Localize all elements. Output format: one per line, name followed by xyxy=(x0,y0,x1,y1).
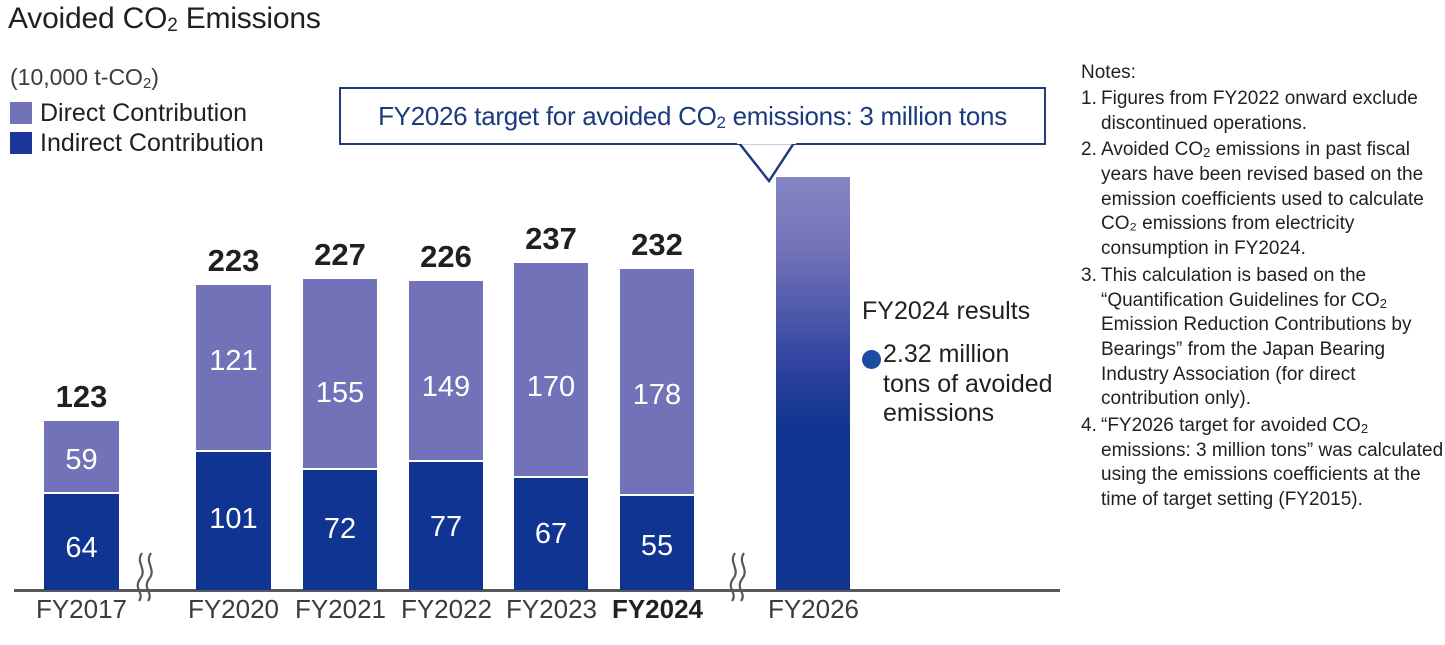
result-annotation-title: FY2024 results xyxy=(862,297,1062,326)
note-text-pre: This calculation is based on the “Quanti… xyxy=(1101,265,1380,311)
note-text: “FY2026 target for avoided CO2 emissions… xyxy=(1101,414,1445,513)
note-number: 1. xyxy=(1081,87,1101,136)
bar-segment-indirect: 72 xyxy=(303,470,377,590)
bar-segment-direct: 121 xyxy=(196,285,271,452)
note-text: Avoided CO2 emissions in past fiscal yea… xyxy=(1101,138,1445,261)
result-annotation-body: 2.32 milliontons of avoidedemissions xyxy=(862,340,1062,429)
x-axis-label-fy2017: FY2017 xyxy=(14,594,149,625)
result-annotation-value: 2.32 milliontons of avoidedemissions xyxy=(883,340,1053,429)
x-axis-label-fy2026: FY2026 xyxy=(746,594,881,625)
bar-segment-value: 67 xyxy=(514,520,588,549)
bar-total-label: 237 xyxy=(514,223,588,254)
bar-total-label: 232 xyxy=(620,229,694,260)
note-item: 1. Figures from FY2022 onward exclude di… xyxy=(1081,87,1445,136)
note-item: 2. Avoided CO2 emissions in past fiscal … xyxy=(1081,138,1445,261)
bar-segment-indirect: 55 xyxy=(620,496,694,590)
x-axis-label-fy2024: FY2024 xyxy=(590,594,725,625)
bar-segment-direct: 178 xyxy=(620,269,694,496)
bar-segment-indirect: 64 xyxy=(44,494,119,590)
bar-segment-value: 101 xyxy=(196,505,271,534)
bar-fy2020: 223 121 101 xyxy=(196,285,271,590)
result-value-line3: emissions xyxy=(883,399,994,427)
bar-total-label: 223 xyxy=(196,245,271,276)
bar-segment-direct: 170 xyxy=(514,263,588,478)
note-item: 4. “FY2026 target for avoided CO2 emissi… xyxy=(1081,414,1445,513)
bar-segment-value: 149 xyxy=(409,373,483,402)
bar-fy2024: 232 178 55 xyxy=(620,269,694,590)
bar-segment-indirect: 77 xyxy=(409,462,483,590)
note-text-pre: “FY2026 target for avoided CO xyxy=(1101,415,1361,436)
bullet-dot-icon xyxy=(862,350,881,369)
note-text-post: Emission Reduction Contributions by Bear… xyxy=(1101,314,1412,409)
note-text: This calculation is based on the “Quanti… xyxy=(1101,264,1445,412)
bar-fy2026-target xyxy=(776,177,850,590)
notes-heading: Notes: xyxy=(1081,62,1445,84)
note-item: 3. This calculation is based on the “Qua… xyxy=(1081,264,1445,412)
bar-segment-value: 72 xyxy=(303,515,377,544)
bar-segment-indirect: 101 xyxy=(196,452,271,590)
bar-segment-target-gradient xyxy=(776,177,850,590)
bar-segment-value: 55 xyxy=(620,532,694,561)
bar-total-label: 227 xyxy=(303,239,377,270)
bar-segment-value: 77 xyxy=(409,513,483,542)
note-text: Figures from FY2022 onward exclude disco… xyxy=(1101,87,1445,136)
bar-total-label: 226 xyxy=(409,241,483,272)
note-number: 2. xyxy=(1081,138,1101,261)
bar-segment-direct: 59 xyxy=(44,421,119,494)
bar-segment-direct: 155 xyxy=(303,279,377,470)
note-number: 3. xyxy=(1081,264,1101,412)
chart-page: Avoided CO2 Emissions (10,000 t-CO2) Dir… xyxy=(0,0,1445,645)
bar-segment-indirect: 67 xyxy=(514,478,588,590)
note-text-pre: Avoided CO xyxy=(1101,139,1203,160)
bar-fy2021: 227 155 72 xyxy=(303,279,377,590)
bar-segment-direct: 149 xyxy=(409,281,483,462)
bar-segment-value: 170 xyxy=(514,373,588,402)
notes-section: Notes: 1. Figures from FY2022 onward exc… xyxy=(1081,62,1445,515)
bar-segment-value: 155 xyxy=(303,379,377,408)
note-text-subscript: 2 xyxy=(1361,421,1368,436)
result-value-line1: 2.32 million xyxy=(883,340,1009,368)
note-text-subscript: 2 xyxy=(1380,296,1387,311)
note-text-subscript: 2 xyxy=(1203,145,1210,160)
result-value-line2: tons of avoided xyxy=(883,370,1053,398)
bar-segment-value: 64 xyxy=(44,534,119,563)
bar-segment-value: 59 xyxy=(44,446,119,475)
bar-fy2023: 237 170 67 xyxy=(514,263,588,590)
result-annotation: FY2024 results 2.32 milliontons of avoid… xyxy=(862,297,1062,429)
bar-fy2022: 226 149 77 xyxy=(409,281,483,590)
note-number: 4. xyxy=(1081,414,1101,513)
bar-total-label: 123 xyxy=(44,381,119,412)
bar-fy2017: 123 59 64 xyxy=(44,421,119,590)
bar-segment-value: 121 xyxy=(196,347,271,376)
bar-segment-value: 178 xyxy=(620,381,694,410)
note-text-post: emissions: 3 million tons” was calculate… xyxy=(1101,440,1443,510)
note-text-pre: Figures from FY2022 onward exclude disco… xyxy=(1101,88,1418,134)
